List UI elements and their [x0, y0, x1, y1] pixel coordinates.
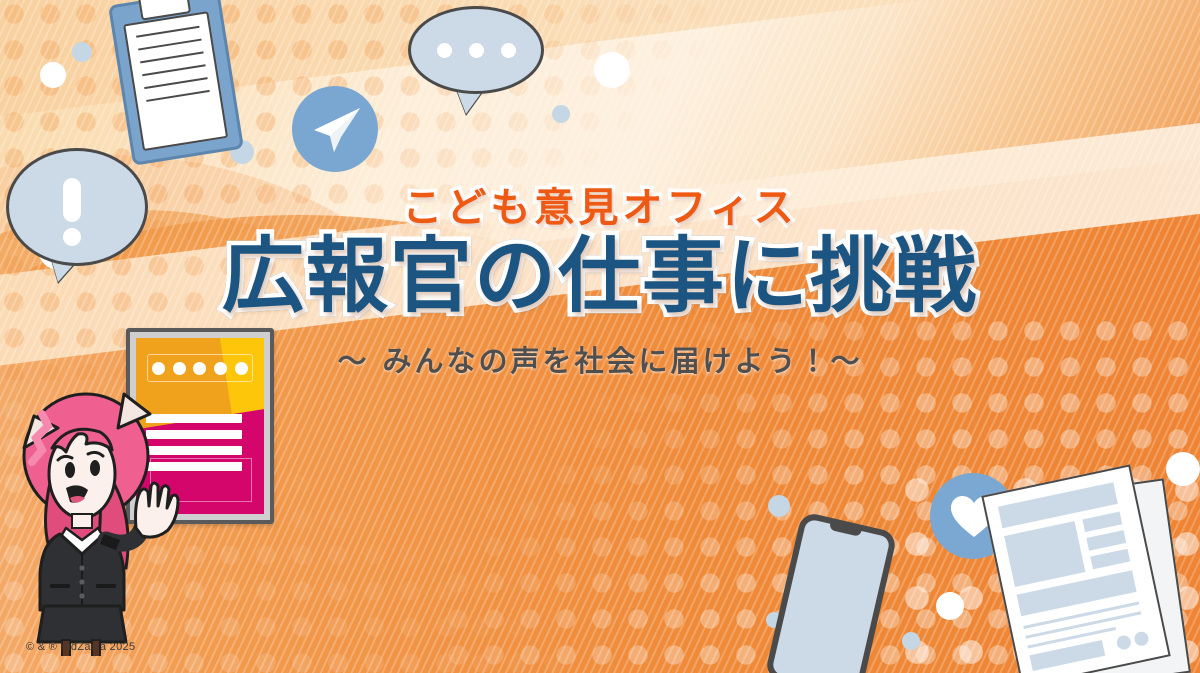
title-block: こども意見オフィス 広報官の仕事に挑戦 〜 みんなの声を社会に届けよう！〜	[0, 186, 1200, 380]
paper-plane-icon	[292, 86, 378, 172]
deco-bubble-white	[40, 62, 66, 88]
deco-bubble-blue	[552, 105, 570, 123]
kicker-text: こども意見オフィス	[0, 186, 1200, 230]
copyright-notice: © & ® KidZania 2025	[26, 641, 135, 653]
deco-bubble-blue	[902, 632, 920, 650]
deco-bubble-blue	[72, 42, 92, 62]
page-title: 広報官の仕事に挑戦	[0, 234, 1200, 320]
kidzania-character	[8, 388, 208, 656]
deco-bubble-white	[1166, 452, 1200, 486]
banner-hero: こども意見オフィス 広報官の仕事に挑戦 〜 みんなの声を社会に届けよう！〜 © …	[0, 0, 1200, 673]
deco-bubble-blue	[768, 495, 790, 517]
tagline-text: 〜 みんなの声を社会に届けよう！〜	[0, 338, 1200, 380]
deco-bubble-white	[594, 52, 630, 88]
deco-bubble-white	[936, 592, 964, 620]
speech-bubble-dots-icon	[408, 6, 544, 94]
